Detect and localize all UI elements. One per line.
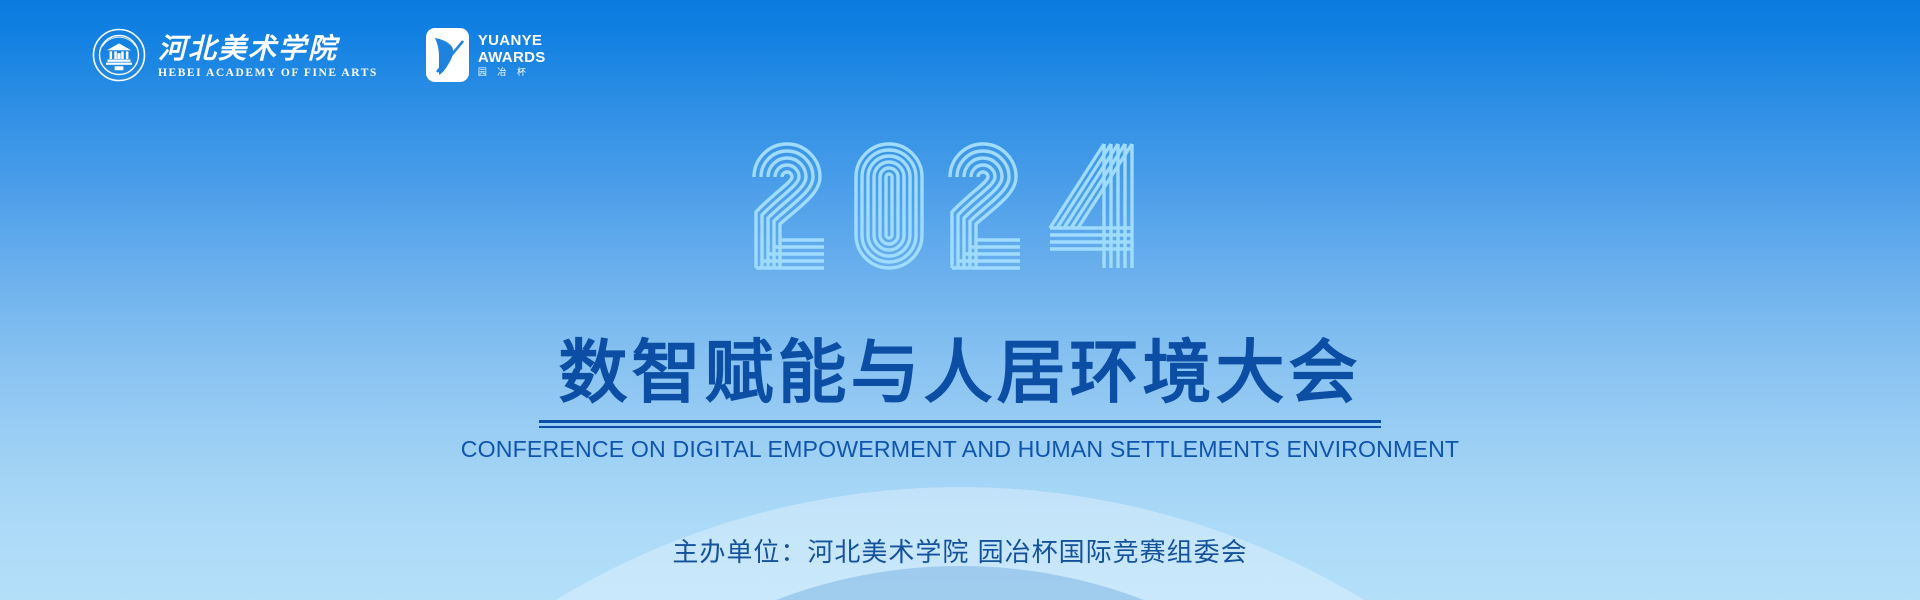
- conference-banner: 河北美术学院 HEBEI ACADEMY OF FINE ARTS YUANYE…: [0, 0, 1920, 600]
- background-arc-inner: [445, 566, 1475, 600]
- hebei-text-block: 河北美术学院 HEBEI ACADEMY OF FINE ARTS: [158, 31, 378, 80]
- logo-yuanye-awards[interactable]: YUANYE AWARDS 园 冶 杯: [426, 28, 546, 82]
- title-divider: [539, 420, 1381, 428]
- page-subtitle: CONFERENCE ON DIGITAL EMPOWERMENT AND HU…: [14, 436, 1905, 463]
- svg-text:河北美术学院: 河北美术学院: [158, 32, 341, 65]
- logo-hebei-academy[interactable]: 河北美术学院 HEBEI ACADEMY OF FINE ARTS: [92, 28, 378, 82]
- host-organizations: 主办单位：河北美术学院 园冶杯国际竞赛组委会: [0, 532, 1920, 569]
- yuanye-text-block: YUANYE AWARDS 园 冶 杯: [478, 33, 546, 76]
- circular-seal-emblem-icon: [92, 28, 146, 82]
- logo-row: 河北美术学院 HEBEI ACADEMY OF FINE ARTS YUANYE…: [92, 28, 546, 82]
- hebei-name-en: HEBEI ACADEMY OF FINE ARTS: [158, 68, 378, 80]
- divider-rule-thin: [539, 426, 1381, 428]
- divider-rule-thick: [539, 420, 1381, 423]
- yuanye-leaf-mark-icon: [426, 28, 469, 82]
- page-title: 数智赋能与人居环境大会: [0, 338, 1920, 408]
- year-2024-graphic: [750, 136, 1170, 272]
- hero-title-block: 数智赋能与人居环境大会 CONFERENCE ON DIGITAL EMPOWE…: [0, 338, 1920, 463]
- yuanye-line2: AWARDS: [478, 50, 546, 66]
- yuanye-line1: YUANYE: [478, 33, 546, 49]
- hebei-name-cn: 河北美术学院: [158, 31, 358, 65]
- yuanye-name-cn: 园 冶 杯: [478, 68, 546, 77]
